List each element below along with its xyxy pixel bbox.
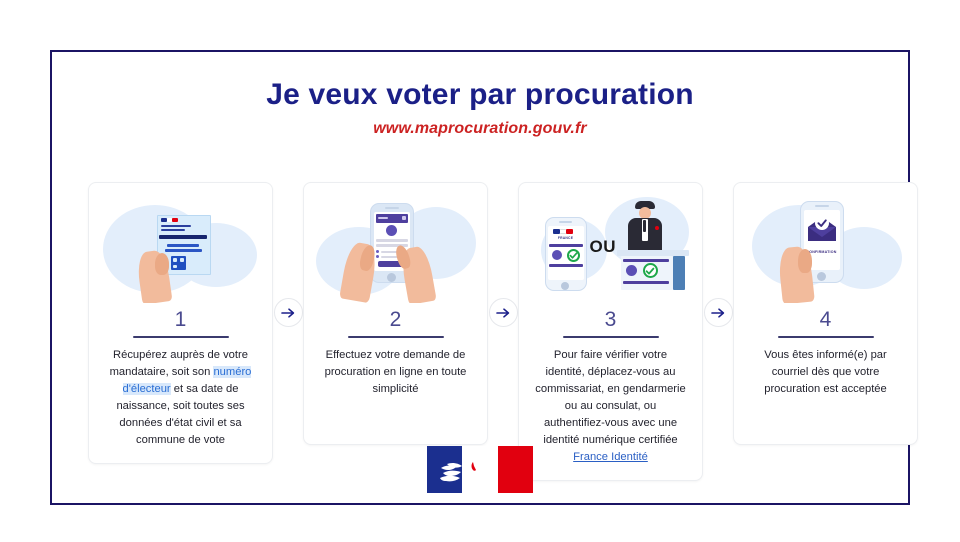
id-band: [549, 244, 583, 247]
card-title-line: [165, 249, 202, 252]
step-card-3: FRANCE OU: [518, 182, 703, 481]
flag-white-stripe: [560, 229, 566, 234]
qr-cell: [173, 265, 177, 268]
marianne-silhouette-icon: [427, 446, 534, 493]
flag-red-stripe: [566, 229, 573, 234]
id-band: [623, 281, 669, 284]
step-divider: [778, 336, 874, 338]
phone-home-button: [561, 282, 569, 290]
or-label: OU: [590, 237, 617, 257]
arrow-right-glyph: [281, 307, 296, 319]
phone-speaker: [385, 207, 399, 209]
radio-option: [376, 250, 379, 253]
step-text-part: Effectuez votre demande de procuration e…: [325, 349, 467, 395]
qr-cell: [173, 258, 177, 262]
envelope-icon: [806, 214, 838, 244]
officer-insignia: [655, 226, 659, 230]
steps-strip: 1 Récupérez auprès de votre mandataire, …: [88, 182, 876, 481]
step-text-part: Vous êtes informé(e) par courriel dès qu…: [764, 349, 887, 395]
connector-2: [488, 182, 518, 327]
step-number: 1: [175, 309, 187, 330]
connector-1: [273, 182, 303, 327]
radio-option: [376, 255, 379, 258]
connector-3: [703, 182, 733, 327]
card-text-line: [161, 225, 191, 227]
arrow-right-icon[interactable]: [489, 298, 518, 327]
thumb: [155, 253, 169, 275]
poster-header: Je veux voter par procuration www.maproc…: [52, 52, 908, 138]
app-header-text: [378, 217, 388, 219]
app-header-icon: [402, 216, 406, 220]
qr-cell: [180, 258, 184, 262]
step-description: Récupérez auprès de votre mandataire, so…: [97, 347, 264, 449]
phone-home-button: [387, 273, 396, 282]
step-divider: [133, 336, 229, 338]
arrow-right-icon[interactable]: [704, 298, 733, 327]
id-band: [549, 264, 583, 267]
french-republic-marianne-flag-logo: [427, 446, 534, 493]
step-card-4: CONFIRMATION 4 Vous êtes informé(e) par …: [733, 182, 918, 445]
check-icon: [645, 266, 655, 276]
illustration-step-3: FRANCE OU: [527, 193, 695, 303]
website-url: www.maprocuration.gouv.fr: [52, 120, 908, 138]
step-description: Effectuez votre demande de procuration e…: [312, 347, 479, 398]
card-text-line: [161, 229, 185, 231]
step-description: Vous êtes informé(e) par courriel dès qu…: [742, 347, 909, 398]
step-text-part: Pour faire vérifier votre identité, dépl…: [535, 349, 685, 446]
poster-footer: [52, 446, 908, 493]
arrow-right-glyph: [711, 307, 726, 319]
thumb: [798, 249, 812, 273]
illustration-step-4: CONFIRMATION: [742, 193, 910, 303]
illustration-step-1: [97, 193, 265, 303]
step-divider: [563, 336, 659, 338]
card-divider: [159, 235, 207, 239]
officer-tie: [643, 220, 646, 232]
illustration-step-2: [312, 193, 480, 303]
step-number: 4: [820, 309, 832, 330]
phone-speaker: [559, 221, 572, 223]
arrow-right-glyph: [496, 307, 511, 319]
poster-frame: Je veux voter par procuration www.maproc…: [50, 50, 910, 505]
form-field: [376, 239, 408, 242]
desk-side: [673, 256, 685, 290]
avatar-circle: [626, 265, 637, 276]
avatar-circle: [552, 250, 562, 260]
arrow-right-icon[interactable]: [274, 298, 303, 327]
avatar-circle: [386, 225, 397, 236]
step-number: 2: [390, 309, 402, 330]
step-number: 3: [605, 309, 617, 330]
id-band: [623, 259, 669, 262]
phone-home-button: [817, 272, 826, 281]
step-card-1: 1 Récupérez auprès de votre mandataire, …: [88, 182, 273, 464]
flag-white-stripe: [167, 218, 172, 222]
flag-blue-stripe: [553, 229, 560, 234]
page-title: Je veux voter par procuration: [52, 78, 908, 111]
step-divider: [348, 336, 444, 338]
flag-red-stripe: [172, 218, 178, 222]
card-title-line: [167, 244, 199, 247]
phone-speaker: [815, 205, 829, 207]
step-card-2: 2 Effectuez votre demande de procuration…: [303, 182, 488, 445]
flag-blue-stripe: [161, 218, 167, 222]
check-icon: [569, 251, 578, 260]
